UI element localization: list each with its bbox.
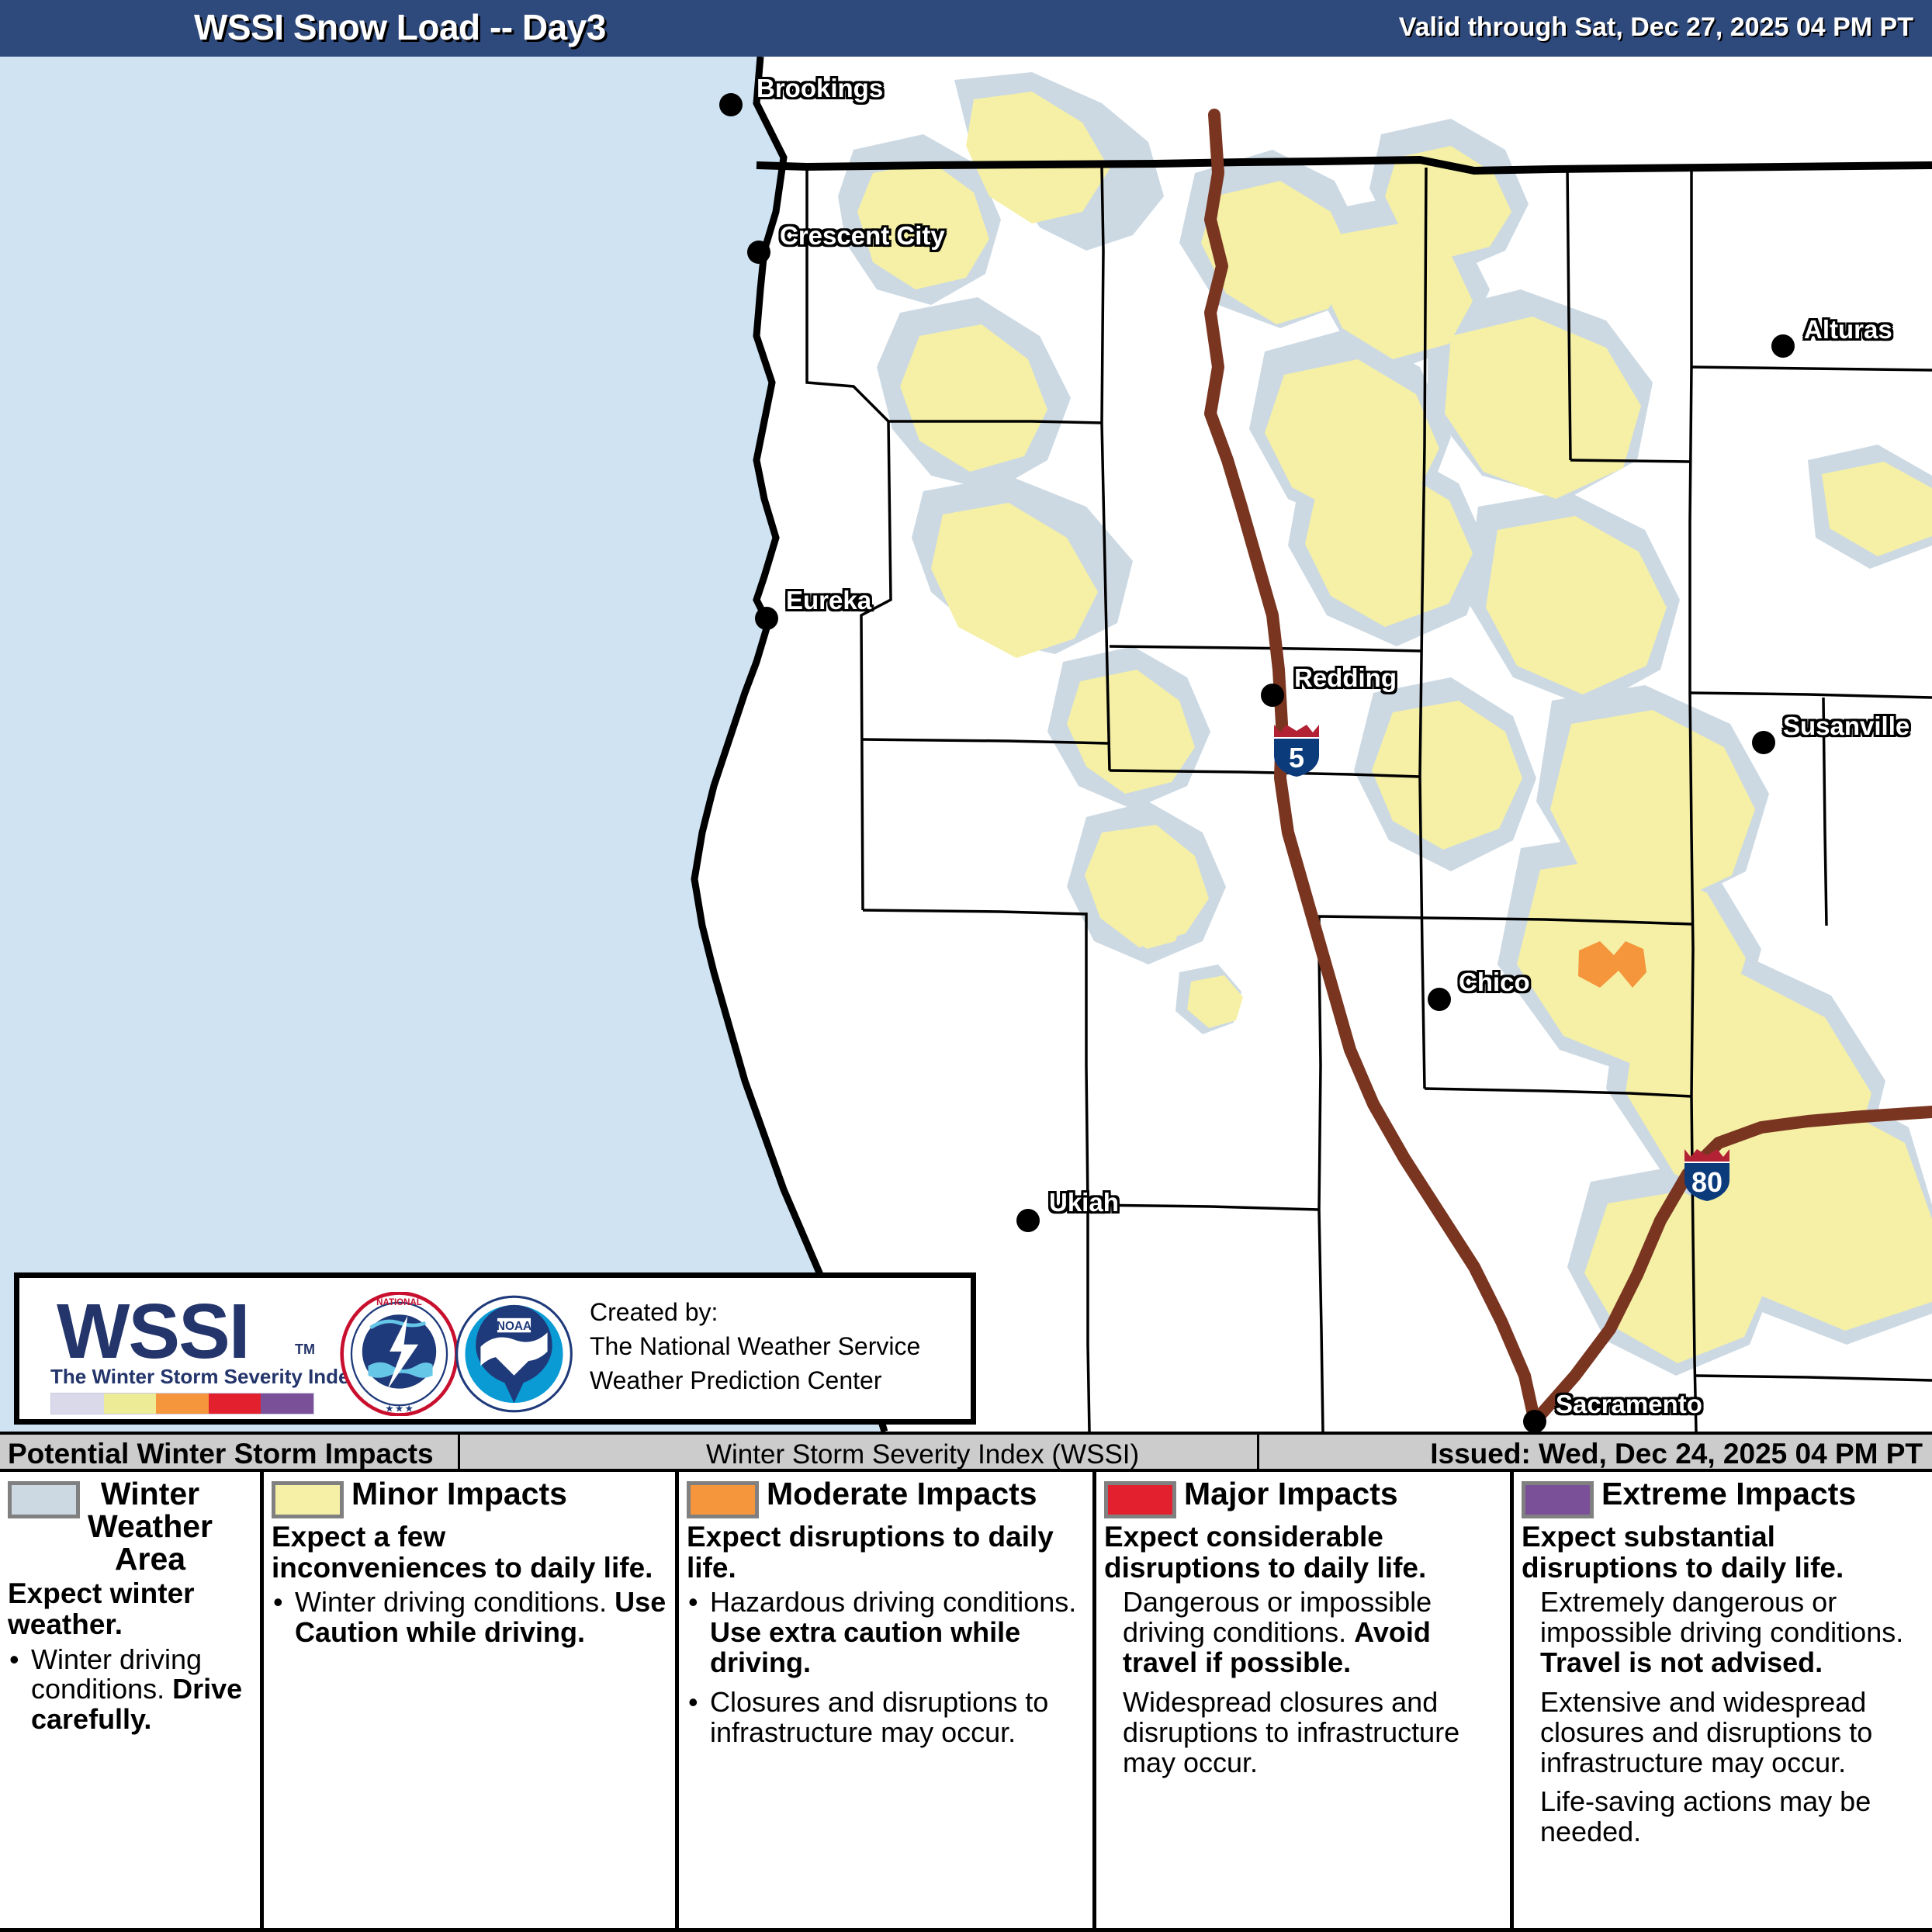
created-by-line-3: Weather Prediction Center xyxy=(590,1363,920,1397)
legend-column-major-impacts[interactable]: Major Impacts Expect considerable disrup… xyxy=(1096,1472,1514,1932)
pacific-ocean xyxy=(0,57,885,1432)
legend-swatch-winter-weather-area xyxy=(8,1481,80,1518)
legend-swatch-major-impacts xyxy=(1104,1481,1176,1518)
status-index-name: Winter Storm Severity Index (WSSI) xyxy=(706,1439,1139,1470)
wssi-logo-box: WSSI TM The Winter Storm Severity Index … xyxy=(14,1272,976,1425)
noaa-seal-icon: NOAA xyxy=(454,1292,574,1416)
city-label-ukiah: Ukiah xyxy=(1049,1188,1119,1217)
status-divider-1 xyxy=(458,1435,460,1475)
wssi-wordmark: WSSI xyxy=(57,1287,249,1376)
wssi-trademark: TM xyxy=(295,1342,315,1358)
legend-summary-extreme-impacts: Expect substantial disruptions to daily … xyxy=(1522,1522,1924,1583)
legend-header: WinterWeatherArea xyxy=(8,1478,252,1575)
legend-column-winter-weather-area[interactable]: WinterWeatherArea Expect winter weather.… xyxy=(0,1472,264,1932)
city-dot-redding xyxy=(1261,684,1284,707)
legend-bullets-moderate-impacts: Hazardous driving conditions. Use extra … xyxy=(687,1587,1085,1747)
interstate-80-number: 80 xyxy=(1681,1166,1733,1199)
city-dot-chico xyxy=(1428,988,1451,1011)
legend-summary-minor-impacts: Expect a few inconveniences to daily lif… xyxy=(272,1522,667,1583)
wssi-severity-colorbar xyxy=(50,1393,314,1414)
map-graphics xyxy=(0,57,1932,1432)
city-label-crescent-city: Crescent City xyxy=(780,221,945,251)
legend-bullets-minor-impacts: Winter driving conditions. Use Caution w… xyxy=(272,1587,667,1648)
city-label-chico: Chico xyxy=(1459,968,1530,997)
interstate-5-number: 5 xyxy=(1271,742,1322,774)
legend-header: Major Impacts xyxy=(1104,1478,1502,1518)
svg-text:★ ★ ★: ★ ★ ★ xyxy=(386,1404,413,1414)
status-divider-2 xyxy=(1257,1435,1259,1475)
minor-impacts-regions xyxy=(857,92,1932,1363)
legend-bullet: Extensive and widespread closures and di… xyxy=(1522,1688,1924,1778)
city-dot-brookings xyxy=(719,93,743,116)
legend-summary-moderate-impacts: Expect disruptions to daily life. xyxy=(687,1522,1085,1583)
created-by-line-2: The National Weather Service xyxy=(590,1329,920,1363)
status-bar: Potential Winter Storm Impacts Winter St… xyxy=(0,1432,1932,1472)
legend-bullet: Closures and disruptions to infrastructu… xyxy=(687,1688,1085,1748)
legend-bullets-extreme-impacts: Extremely dangerous or impossible drivin… xyxy=(1522,1587,1924,1847)
map-canvas[interactable]: Brookings Crescent City Alturas Eureka R… xyxy=(0,57,1932,1432)
nws-seal-icon: NATIONAL ★ ★ ★ xyxy=(339,1292,459,1416)
city-label-susanville: Susanville xyxy=(1783,712,1909,741)
legend-swatch-moderate-impacts xyxy=(687,1481,759,1518)
legend-title-major-impacts: Major Impacts xyxy=(1184,1478,1398,1511)
legend-bullet: Extremely dangerous or impossible drivin… xyxy=(1522,1587,1924,1678)
city-label-eureka: Eureka xyxy=(786,586,871,615)
legend-bullet: Widespread closures and disruptions to i… xyxy=(1104,1688,1502,1778)
legend-bullet: Winter driving conditions. Drive careful… xyxy=(8,1645,252,1736)
city-dot-eureka xyxy=(755,607,778,630)
header-bar: WSSI Snow Load -- Day3 Valid through Sat… xyxy=(0,0,1932,57)
city-dot-alturas xyxy=(1771,334,1795,358)
legend-bullet: Winter driving conditions. Use Caution w… xyxy=(272,1587,667,1648)
svg-text:NOAA: NOAA xyxy=(497,1320,531,1333)
city-label-brookings: Brookings xyxy=(757,74,883,103)
legend-title-moderate-impacts: Moderate Impacts xyxy=(767,1478,1037,1511)
legend-bullet: Dangerous or impossible driving conditio… xyxy=(1104,1587,1502,1678)
city-dot-ukiah xyxy=(1016,1209,1040,1232)
city-dot-susanville xyxy=(1752,731,1775,754)
legend-swatch-minor-impacts xyxy=(272,1481,344,1518)
legend-title-extreme-impacts: Extreme Impacts xyxy=(1601,1478,1856,1511)
state-boundary xyxy=(757,160,1932,171)
interstate-80-shield-icon[interactable]: 80 xyxy=(1681,1144,1733,1202)
svg-text:NATIONAL: NATIONAL xyxy=(376,1298,422,1307)
city-label-alturas: Alturas xyxy=(1804,315,1892,345)
valid-through-text: Valid through Sat, Dec 27, 2025 04 PM PT xyxy=(1399,12,1913,43)
status-potential-impacts: Potential Winter Storm Impacts xyxy=(8,1438,434,1470)
legend-header: Moderate Impacts xyxy=(687,1478,1085,1518)
legend-bullet: Hazardous driving conditions. Use extra … xyxy=(687,1587,1085,1678)
legend-column-minor-impacts[interactable]: Minor Impacts Expect a few inconvenience… xyxy=(264,1472,679,1932)
impact-legend: WinterWeatherArea Expect winter weather.… xyxy=(0,1472,1932,1932)
status-issued-time: Issued: Wed, Dec 24, 2025 04 PM PT xyxy=(1430,1438,1923,1470)
city-dot-sacramento xyxy=(1523,1410,1546,1432)
legend-title-winter-weather-area: WinterWeatherArea xyxy=(88,1478,213,1575)
legend-swatch-extreme-impacts xyxy=(1522,1481,1594,1518)
legend-title-minor-impacts: Minor Impacts xyxy=(351,1478,567,1511)
legend-column-moderate-impacts[interactable]: Moderate Impacts Expect disruptions to d… xyxy=(679,1472,1096,1932)
interstate-5-shield-icon[interactable]: 5 xyxy=(1271,720,1322,777)
legend-summary-winter-weather-area: Expect winter weather. xyxy=(8,1578,252,1639)
legend-header: Extreme Impacts xyxy=(1522,1478,1924,1518)
city-label-sacramento: Sacramento xyxy=(1556,1390,1702,1419)
city-dot-crescent-city xyxy=(747,241,770,264)
wssi-snow-load-map-page: WSSI Snow Load -- Day3 Valid through Sat… xyxy=(0,0,1932,1932)
wssi-subtitle: The Winter Storm Severity Index xyxy=(50,1365,361,1389)
page-title: WSSI Snow Load -- Day3 xyxy=(194,6,606,48)
created-by-block: Created by: The National Weather Service… xyxy=(590,1295,920,1397)
city-label-redding: Redding xyxy=(1294,663,1397,693)
created-by-line-1: Created by: xyxy=(590,1295,920,1329)
legend-bullets-major-impacts: Dangerous or impossible driving conditio… xyxy=(1104,1587,1502,1778)
legend-column-extreme-impacts[interactable]: Extreme Impacts Expect substantial disru… xyxy=(1514,1472,1932,1932)
legend-summary-major-impacts: Expect considerable disruptions to daily… xyxy=(1104,1522,1502,1583)
legend-header: Minor Impacts xyxy=(272,1478,667,1518)
legend-bullet: Life-saving actions may be needed. xyxy=(1522,1787,1924,1847)
legend-bullets-winter-weather-area: Winter driving conditions. Drive careful… xyxy=(8,1645,252,1736)
